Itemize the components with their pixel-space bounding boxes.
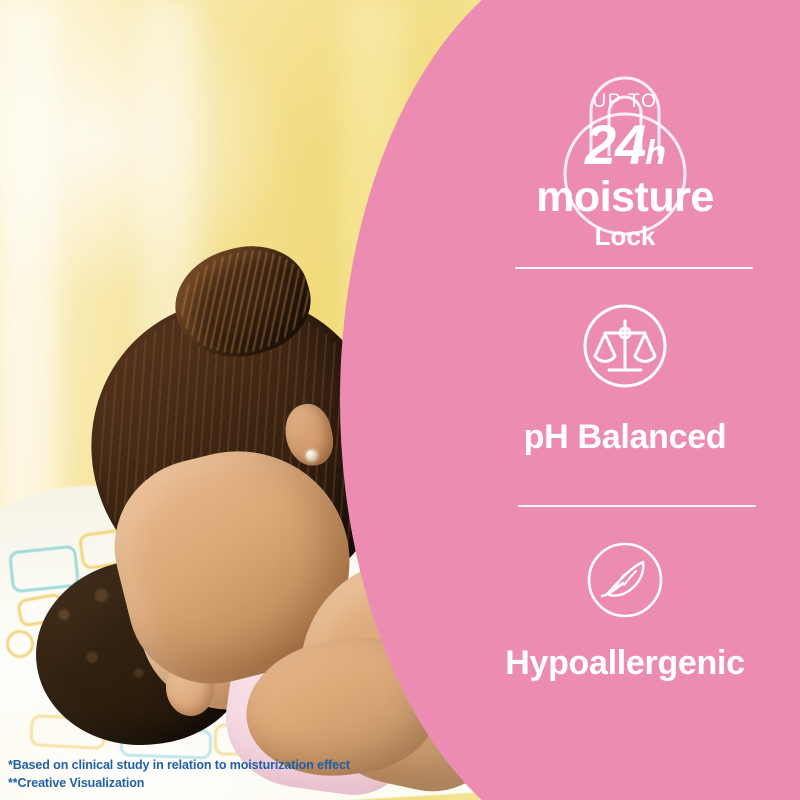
moisture-value: 24h [450, 115, 800, 174]
footnote-1: *Based on clinical study in relation to … [8, 756, 350, 774]
hypoallergenic-label: Hypoallergenic [450, 644, 800, 683]
moisture-eyebrow: UP TO [450, 92, 800, 111]
padlock-graphic: UP TO 24h moisture Lock [450, 64, 800, 244]
moisture-subtitle: Lock [450, 223, 800, 249]
footnotes: *Based on clinical study in relation to … [8, 756, 350, 792]
benefits-content: UP TO 24h moisture Lock pH Balanced [450, 0, 800, 800]
moisture-value-number: 24 [585, 113, 645, 176]
sheet-motif [6, 630, 34, 658]
feature-moisture-lock: UP TO 24h moisture Lock [450, 64, 800, 244]
moisture-value-unit: h [645, 134, 665, 172]
divider-2 [518, 505, 756, 507]
feature-hypoallergenic: Hypoallergenic [450, 540, 800, 683]
moisture-title: moisture [450, 176, 800, 219]
mother-earring [306, 450, 317, 461]
feather-icon [585, 540, 665, 620]
divider-1 [515, 267, 753, 269]
feature-ph-balanced: pH Balanced [450, 300, 800, 457]
ph-balanced-label: pH Balanced [450, 418, 800, 457]
moisture-lock-text: UP TO 24h moisture Lock [450, 92, 800, 249]
balance-scale-icon [579, 300, 671, 392]
footnote-2: **Creative Visualization [8, 774, 350, 792]
product-benefits-banner: UP TO 24h moisture Lock pH Balanced [0, 0, 800, 800]
